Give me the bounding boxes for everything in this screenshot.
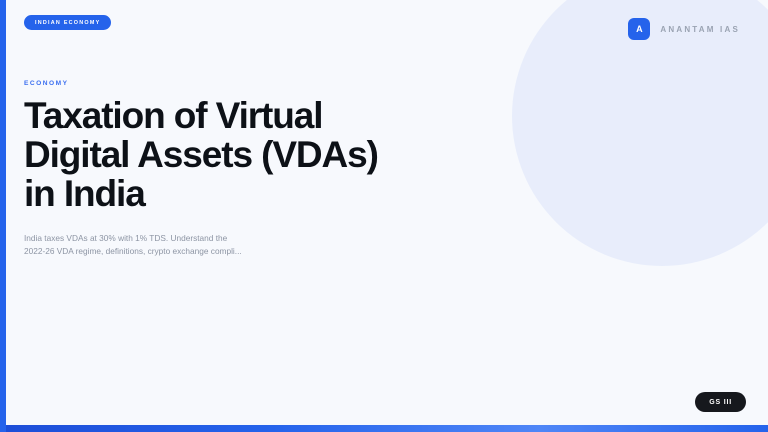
summary-text: India taxes VDAs at 30% with 1% TDS. Und…	[24, 232, 249, 259]
brand-logo[interactable]: A ANANTAM IAS	[628, 18, 740, 40]
bottom-accent-bar	[6, 425, 768, 432]
page-title: Taxation of Virtual Digital Assets (VDAs…	[24, 96, 404, 214]
category-badge[interactable]: INDIAN ECONOMY	[24, 15, 111, 30]
paper-badge[interactable]: GS III	[695, 392, 746, 412]
slide-canvas: INDIAN ECONOMY A ANANTAM IAS ECONOMY Tax…	[0, 0, 768, 432]
brand-name-label: ANANTAM IAS	[660, 25, 740, 34]
brand-mark-icon: A	[628, 18, 650, 40]
eyebrow-label: ECONOMY	[24, 80, 424, 87]
content-block: ECONOMY Taxation of Virtual Digital Asse…	[24, 80, 424, 259]
